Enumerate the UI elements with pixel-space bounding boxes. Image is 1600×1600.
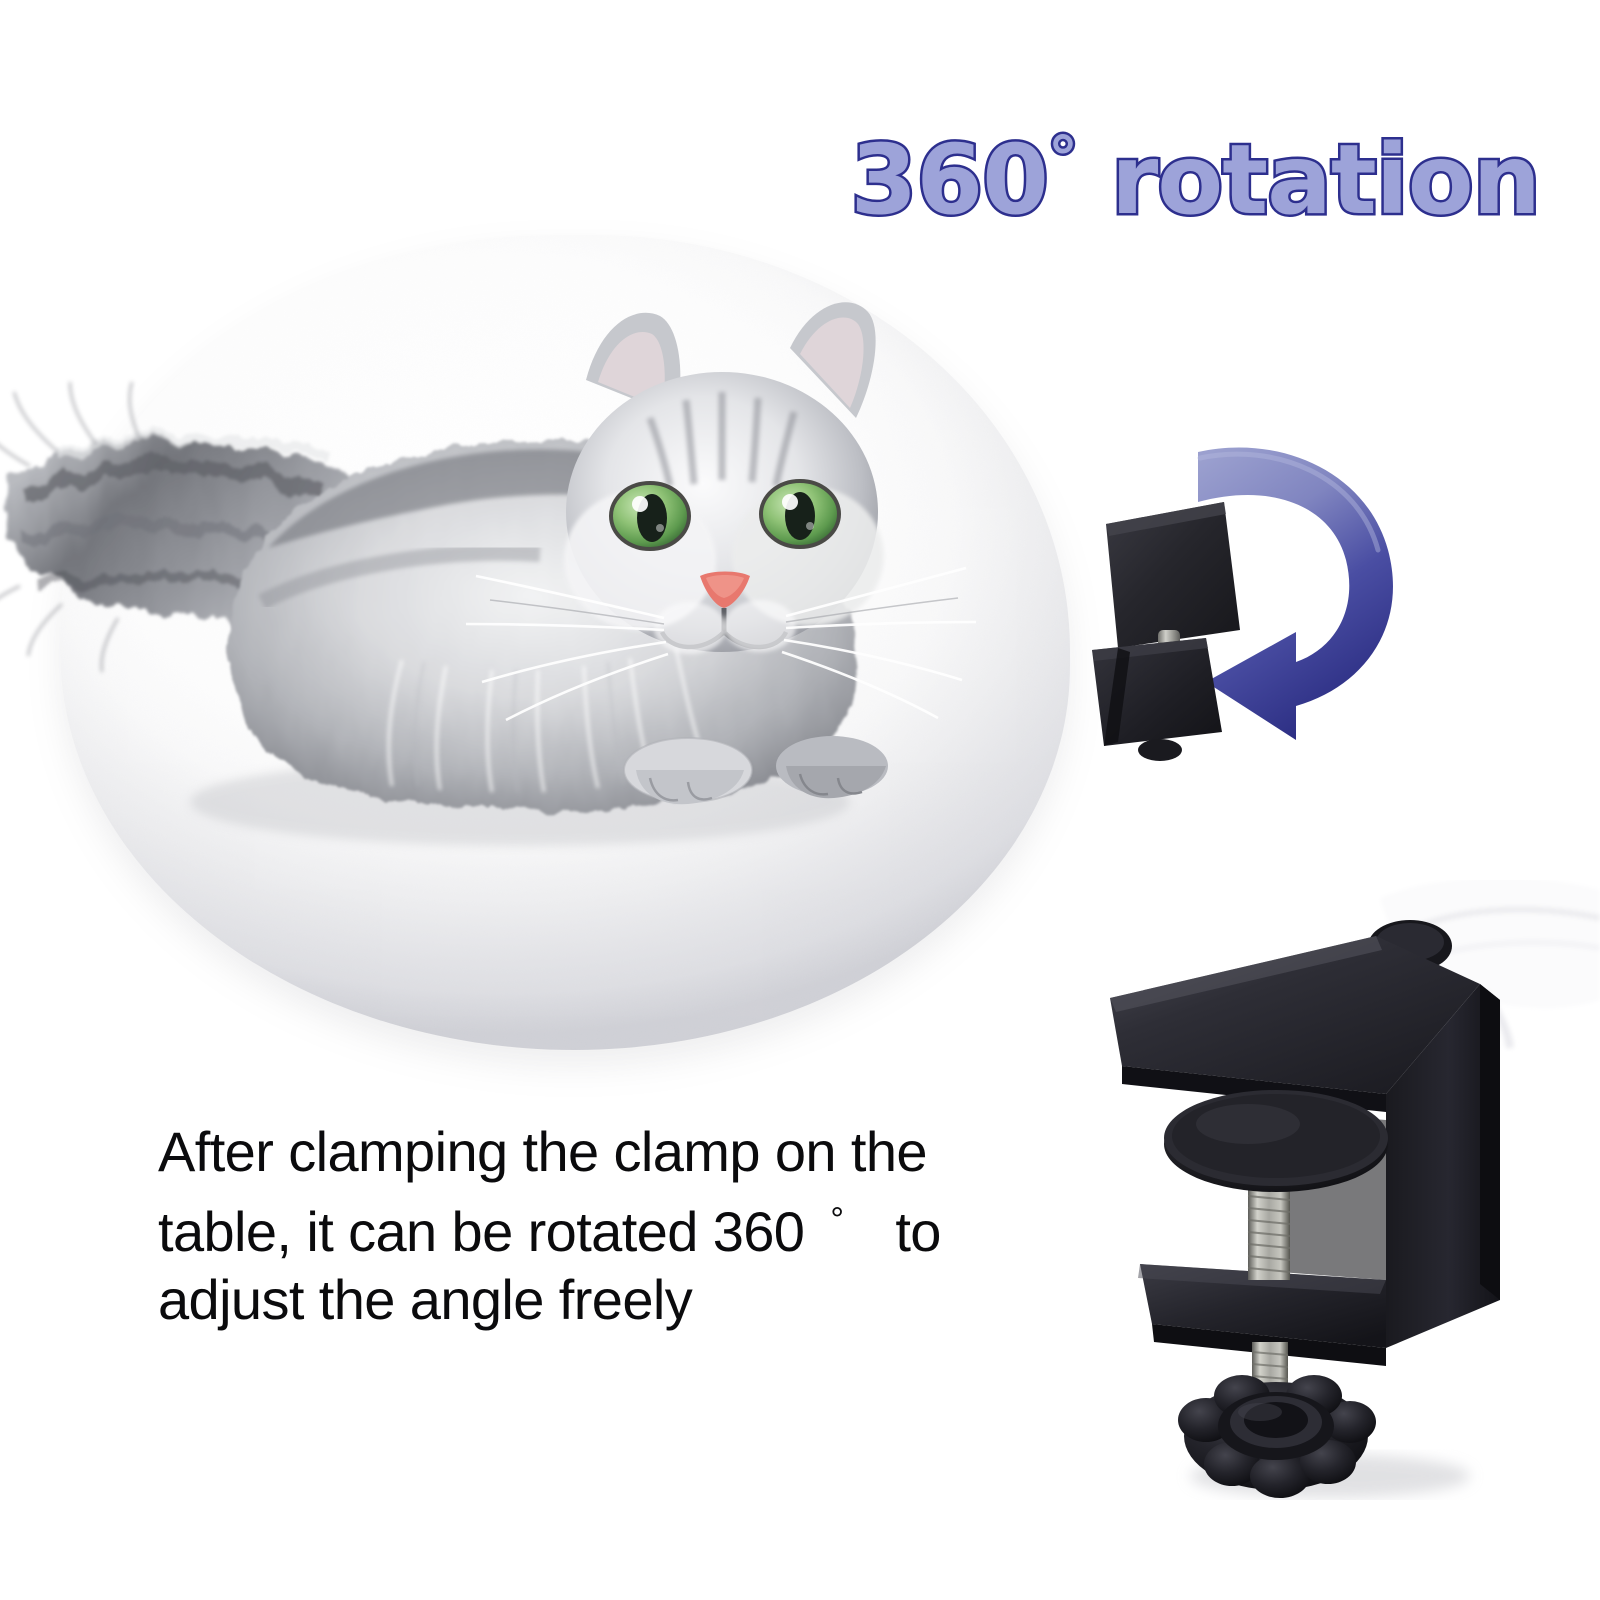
headline-360-rotation: 360°rotation — [740, 104, 1540, 214]
headline-degree-symbol: ° — [1048, 124, 1077, 194]
caption-text: After clamping the clamp on the table, i… — [158, 1118, 1018, 1334]
caption-line-3: adjust the angle freely — [158, 1266, 1018, 1334]
headline-word: rotation — [1111, 124, 1540, 236]
caption-line-2-start: table, it can be rotated 360 — [158, 1200, 804, 1263]
small-rotating-clamp — [1040, 480, 1270, 780]
large-desk-clamp — [1080, 880, 1600, 1500]
caption-degree-symbol: ° — [830, 1201, 843, 1239]
caption-line-1: After clamping the clamp on the — [158, 1118, 1018, 1186]
headline-number: 360 — [851, 124, 1048, 236]
caption-line-2-end: to — [895, 1200, 941, 1263]
cat-photo — [0, 230, 1000, 870]
caption-line-2: table, it can be rotated 360°to — [158, 1186, 1018, 1266]
